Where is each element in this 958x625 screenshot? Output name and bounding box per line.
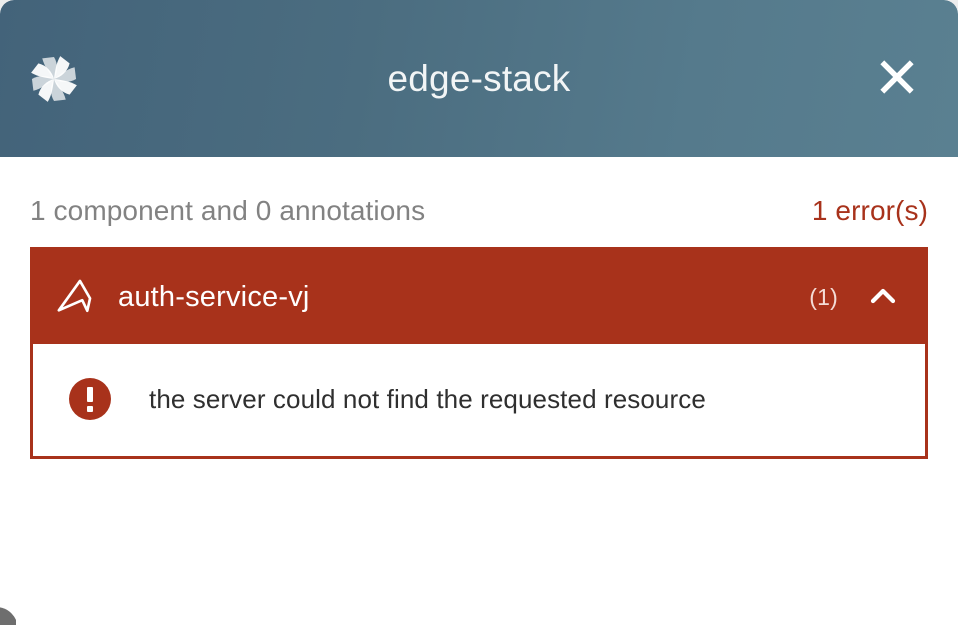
component-count-text: 1 component and 0 annotations — [30, 195, 425, 227]
summary-row: 1 component and 0 annotations 1 error(s) — [30, 157, 928, 247]
component-error-count: (1) — [809, 284, 838, 311]
component-name: auth-service-vj — [118, 281, 809, 314]
edge-stack-dialog: edge-stack 1 component and 0 annotations… — [0, 0, 958, 625]
ambassador-pinwheel-logo-icon — [28, 53, 80, 105]
error-list-item: the server could not find the requested … — [33, 378, 925, 420]
ambassador-delta-icon — [52, 275, 96, 319]
error-message-text: the server could not find the requested … — [149, 384, 706, 415]
error-exclamation-icon — [69, 378, 111, 420]
component-header-auth-service-vj[interactable]: auth-service-vj (1) — [30, 247, 928, 347]
dialog-title: edge-stack — [0, 58, 958, 100]
dialog-header: edge-stack — [0, 0, 958, 157]
dialog-body: 1 component and 0 annotations 1 error(s)… — [0, 157, 958, 459]
component-panel: auth-service-vj (1) — [30, 247, 928, 459]
panel-corner-artifact — [0, 591, 16, 625]
close-icon — [876, 56, 918, 101]
collapse-toggle-button[interactable] — [866, 280, 900, 314]
component-error-list: the server could not find the requested … — [33, 344, 925, 456]
close-button[interactable] — [874, 56, 920, 102]
chevron-up-icon — [867, 280, 899, 315]
error-count-text: 1 error(s) — [812, 195, 928, 227]
